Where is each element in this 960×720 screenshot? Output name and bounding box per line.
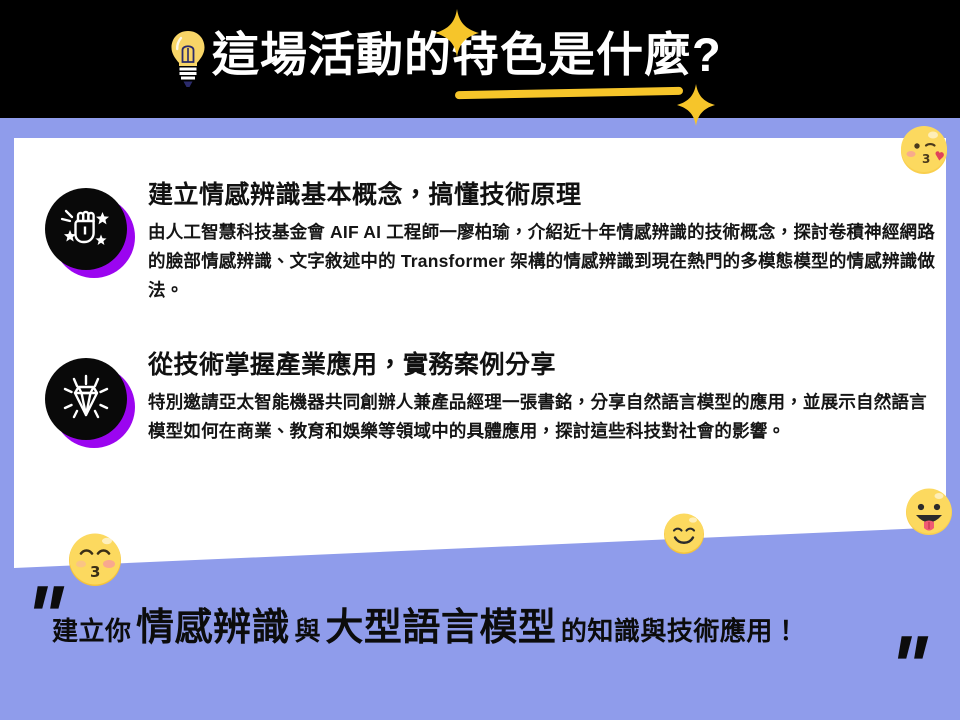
feature-2-icon-badge xyxy=(45,358,127,440)
tagline: 建立你 情感辨識 與 大型語言模型 的知識與技術應用！ xyxy=(52,596,932,651)
feature-1-description: 由人工智慧科技基金會 AIF AI 工程師一廖柏瑜，介紹近十年情感辨識的技術概念… xyxy=(148,218,936,305)
tagline-part-1: 建立你 xyxy=(52,616,132,646)
emoji-smiling-face xyxy=(662,512,706,556)
svg-text:3: 3 xyxy=(922,152,930,166)
emoji-kissing-heart: 3 xyxy=(898,124,952,178)
title-underline xyxy=(455,87,683,99)
feature-1-icon-badge xyxy=(45,188,127,270)
tagline-part-2: 情感辨識 xyxy=(136,607,290,649)
tagline-part-4: 大型語言模型 xyxy=(325,607,556,649)
sparkle-icon-bottom xyxy=(676,83,716,132)
lightbulb-icon xyxy=(168,28,208,90)
bottom-banner: 建立你 情感辨識 與 大型語言模型 的知識與技術應用！ xyxy=(0,560,960,720)
emoji-kissing-smiling-eyes: 3 xyxy=(66,531,124,589)
tagline-part-5: 的知識與技術應用！ xyxy=(561,616,800,646)
emoji-tongue-out xyxy=(903,486,955,538)
header-bar: 這場活動的特色是什麼? xyxy=(0,0,960,118)
sparkle-icon-top xyxy=(434,8,480,63)
shining-diamond-icon xyxy=(45,358,127,440)
slide-root: 建立你 情感辨識 與 大型語言模型 的知識與技術應用！ " " xyxy=(0,0,960,720)
raised-fist-with-stars-icon xyxy=(45,188,127,270)
feature-2-description: 特別邀請亞太智能機器共同創辦人兼產品經理一張書銘，分享自然語言模型的應用，並展示… xyxy=(148,388,936,446)
feature-1-heading: 建立情感辨識基本概念，搞懂技術原理 xyxy=(148,178,938,212)
svg-text:3: 3 xyxy=(90,563,100,581)
feature-2-heading: 從技術掌握產業應用，實務案例分享 xyxy=(148,348,938,382)
tagline-part-3: 與 xyxy=(294,616,321,646)
